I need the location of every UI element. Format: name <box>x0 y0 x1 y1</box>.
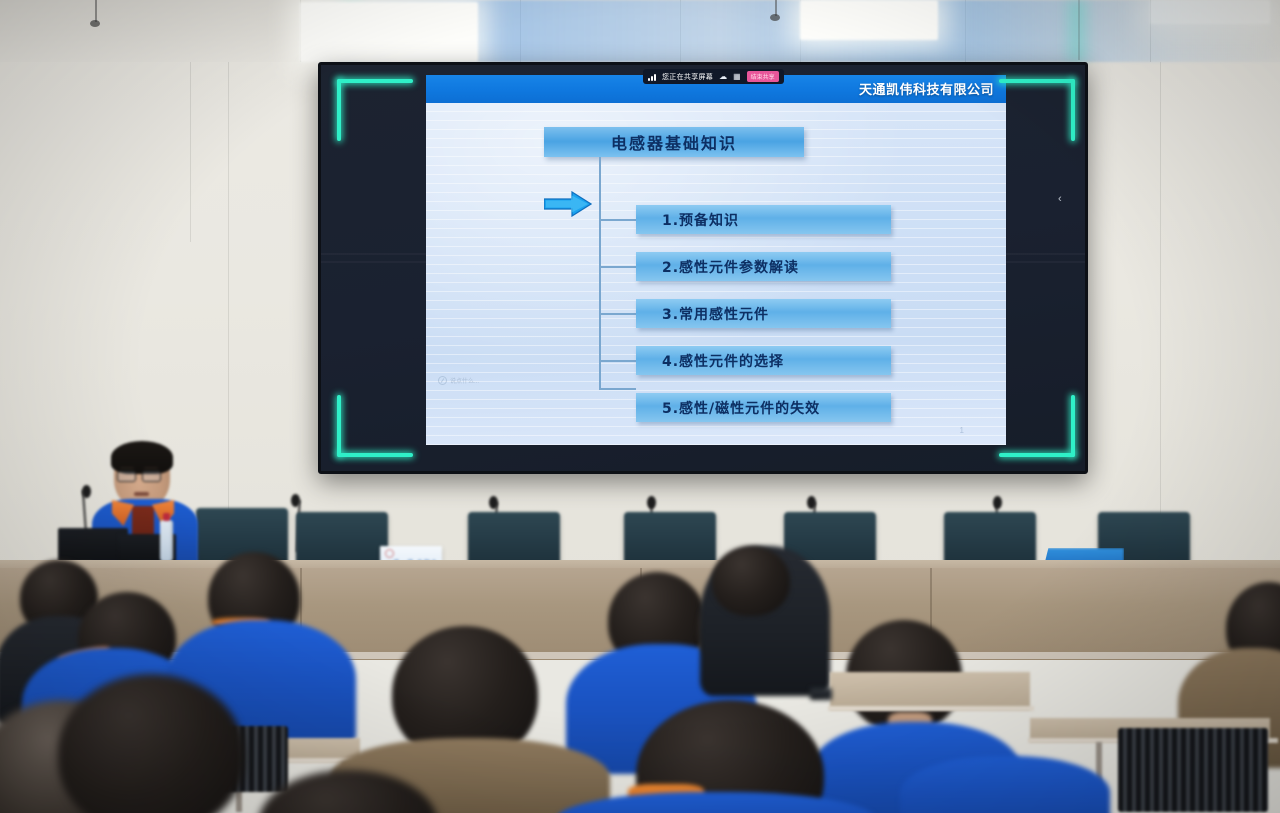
company-name: 天通凯伟科技有限公司 <box>859 79 994 98</box>
tree-branch <box>599 266 636 268</box>
corner-bracket-bottom-right <box>999 395 1075 457</box>
glasses-icon <box>117 471 136 482</box>
slide-item-3-label: 3.常用感性元件 <box>662 304 769 324</box>
conference-room-photo: 天通凯伟科技有限公司 电感器基础知识 1.预备知识 2 <box>0 0 1280 813</box>
ceiling-hook <box>90 20 100 27</box>
cloud-icon[interactable]: ☁ <box>719 72 727 81</box>
corner-bracket-bottom-left <box>337 395 413 457</box>
slide-title: 电感器基础知识 <box>544 127 804 157</box>
share-status-text: 您正在共享屏幕 <box>662 72 713 82</box>
tree-spine <box>599 157 601 389</box>
water-bottle <box>160 520 173 562</box>
slide-item-4-label: 4.感性元件的选择 <box>662 351 784 371</box>
comment-hint: 说点什么... <box>450 376 479 385</box>
audience-torso-foreground <box>900 756 1110 813</box>
classroom-chair[interactable] <box>1118 728 1268 812</box>
slide-surface[interactable]: 天通凯伟科技有限公司 电感器基础知识 1.预备知识 2 <box>426 75 1006 445</box>
company-seal-icon <box>385 549 394 558</box>
teal-ceiling-glow <box>1060 0 1094 62</box>
stop-sharing-button[interactable]: 结束共享 <box>747 71 779 82</box>
slide-item-2-label: 2.感性元件参数解读 <box>662 257 799 277</box>
presentation-display[interactable]: 天通凯伟科技有限公司 电感器基础知识 1.预备知识 2 <box>318 62 1088 474</box>
tree-branch <box>599 388 636 390</box>
audience-head <box>712 546 790 616</box>
slide-page-number: 1 <box>960 426 964 435</box>
ceiling-light-panel <box>1150 0 1270 24</box>
tree-branch <box>599 219 636 221</box>
screen-share-status-bar[interactable]: 您正在共享屏幕 ☁ ▦ 结束共享 <box>643 69 784 84</box>
wall-seam <box>1160 62 1161 532</box>
corner-bracket-top-right <box>999 79 1075 141</box>
signal-bars-icon <box>648 73 656 81</box>
ceiling-light-panel <box>300 2 478 62</box>
glasses-icon <box>142 471 161 482</box>
slide-item-1[interactable]: 1.预备知识 <box>636 205 891 234</box>
ceiling-light-panel <box>800 0 938 40</box>
presenter-hair <box>111 441 173 474</box>
tree-branch <box>599 313 636 315</box>
corner-bracket-top-left <box>337 79 413 141</box>
microphone-head <box>291 494 300 507</box>
classroom-desk <box>830 672 1030 710</box>
presenter-brow <box>144 467 158 469</box>
slide-item-2[interactable]: 2.感性元件参数解读 <box>636 252 891 281</box>
desk-edge <box>828 706 1034 711</box>
slide-item-4[interactable]: 4.感性元件的选择 <box>636 346 891 375</box>
ceiling-rod <box>1078 0 1080 60</box>
slide-item-5[interactable]: 5.感性/磁性元件的失效 <box>636 393 891 422</box>
mobile-phone[interactable] <box>810 688 832 700</box>
ceiling-hook <box>770 14 780 21</box>
microphone-head <box>489 496 498 509</box>
comment-icon <box>438 376 447 385</box>
slide-comment-control[interactable]: 说点什么... <box>438 373 479 387</box>
wall-seam <box>190 62 191 242</box>
slide-item-3[interactable]: 3.常用感性元件 <box>636 299 891 328</box>
pointer-arrow-icon <box>544 191 592 217</box>
presenter-brow <box>120 467 134 469</box>
ceiling-rod <box>95 0 97 22</box>
wall-seam <box>228 62 229 532</box>
slide-item-5-label: 5.感性/磁性元件的失效 <box>662 398 820 418</box>
presenter-mouth <box>134 492 149 496</box>
tree-branch <box>599 360 636 362</box>
microphone-head <box>807 496 816 509</box>
display-nav-arrow-icon[interactable]: ‹ <box>1058 193 1067 205</box>
microphone-head <box>647 496 656 509</box>
app-window-icon[interactable]: ▦ <box>733 72 741 81</box>
slide-title-text: 电感器基础知识 <box>611 130 737 154</box>
microphone-head <box>993 496 1002 509</box>
slide-item-1-label: 1.预备知识 <box>662 210 739 230</box>
